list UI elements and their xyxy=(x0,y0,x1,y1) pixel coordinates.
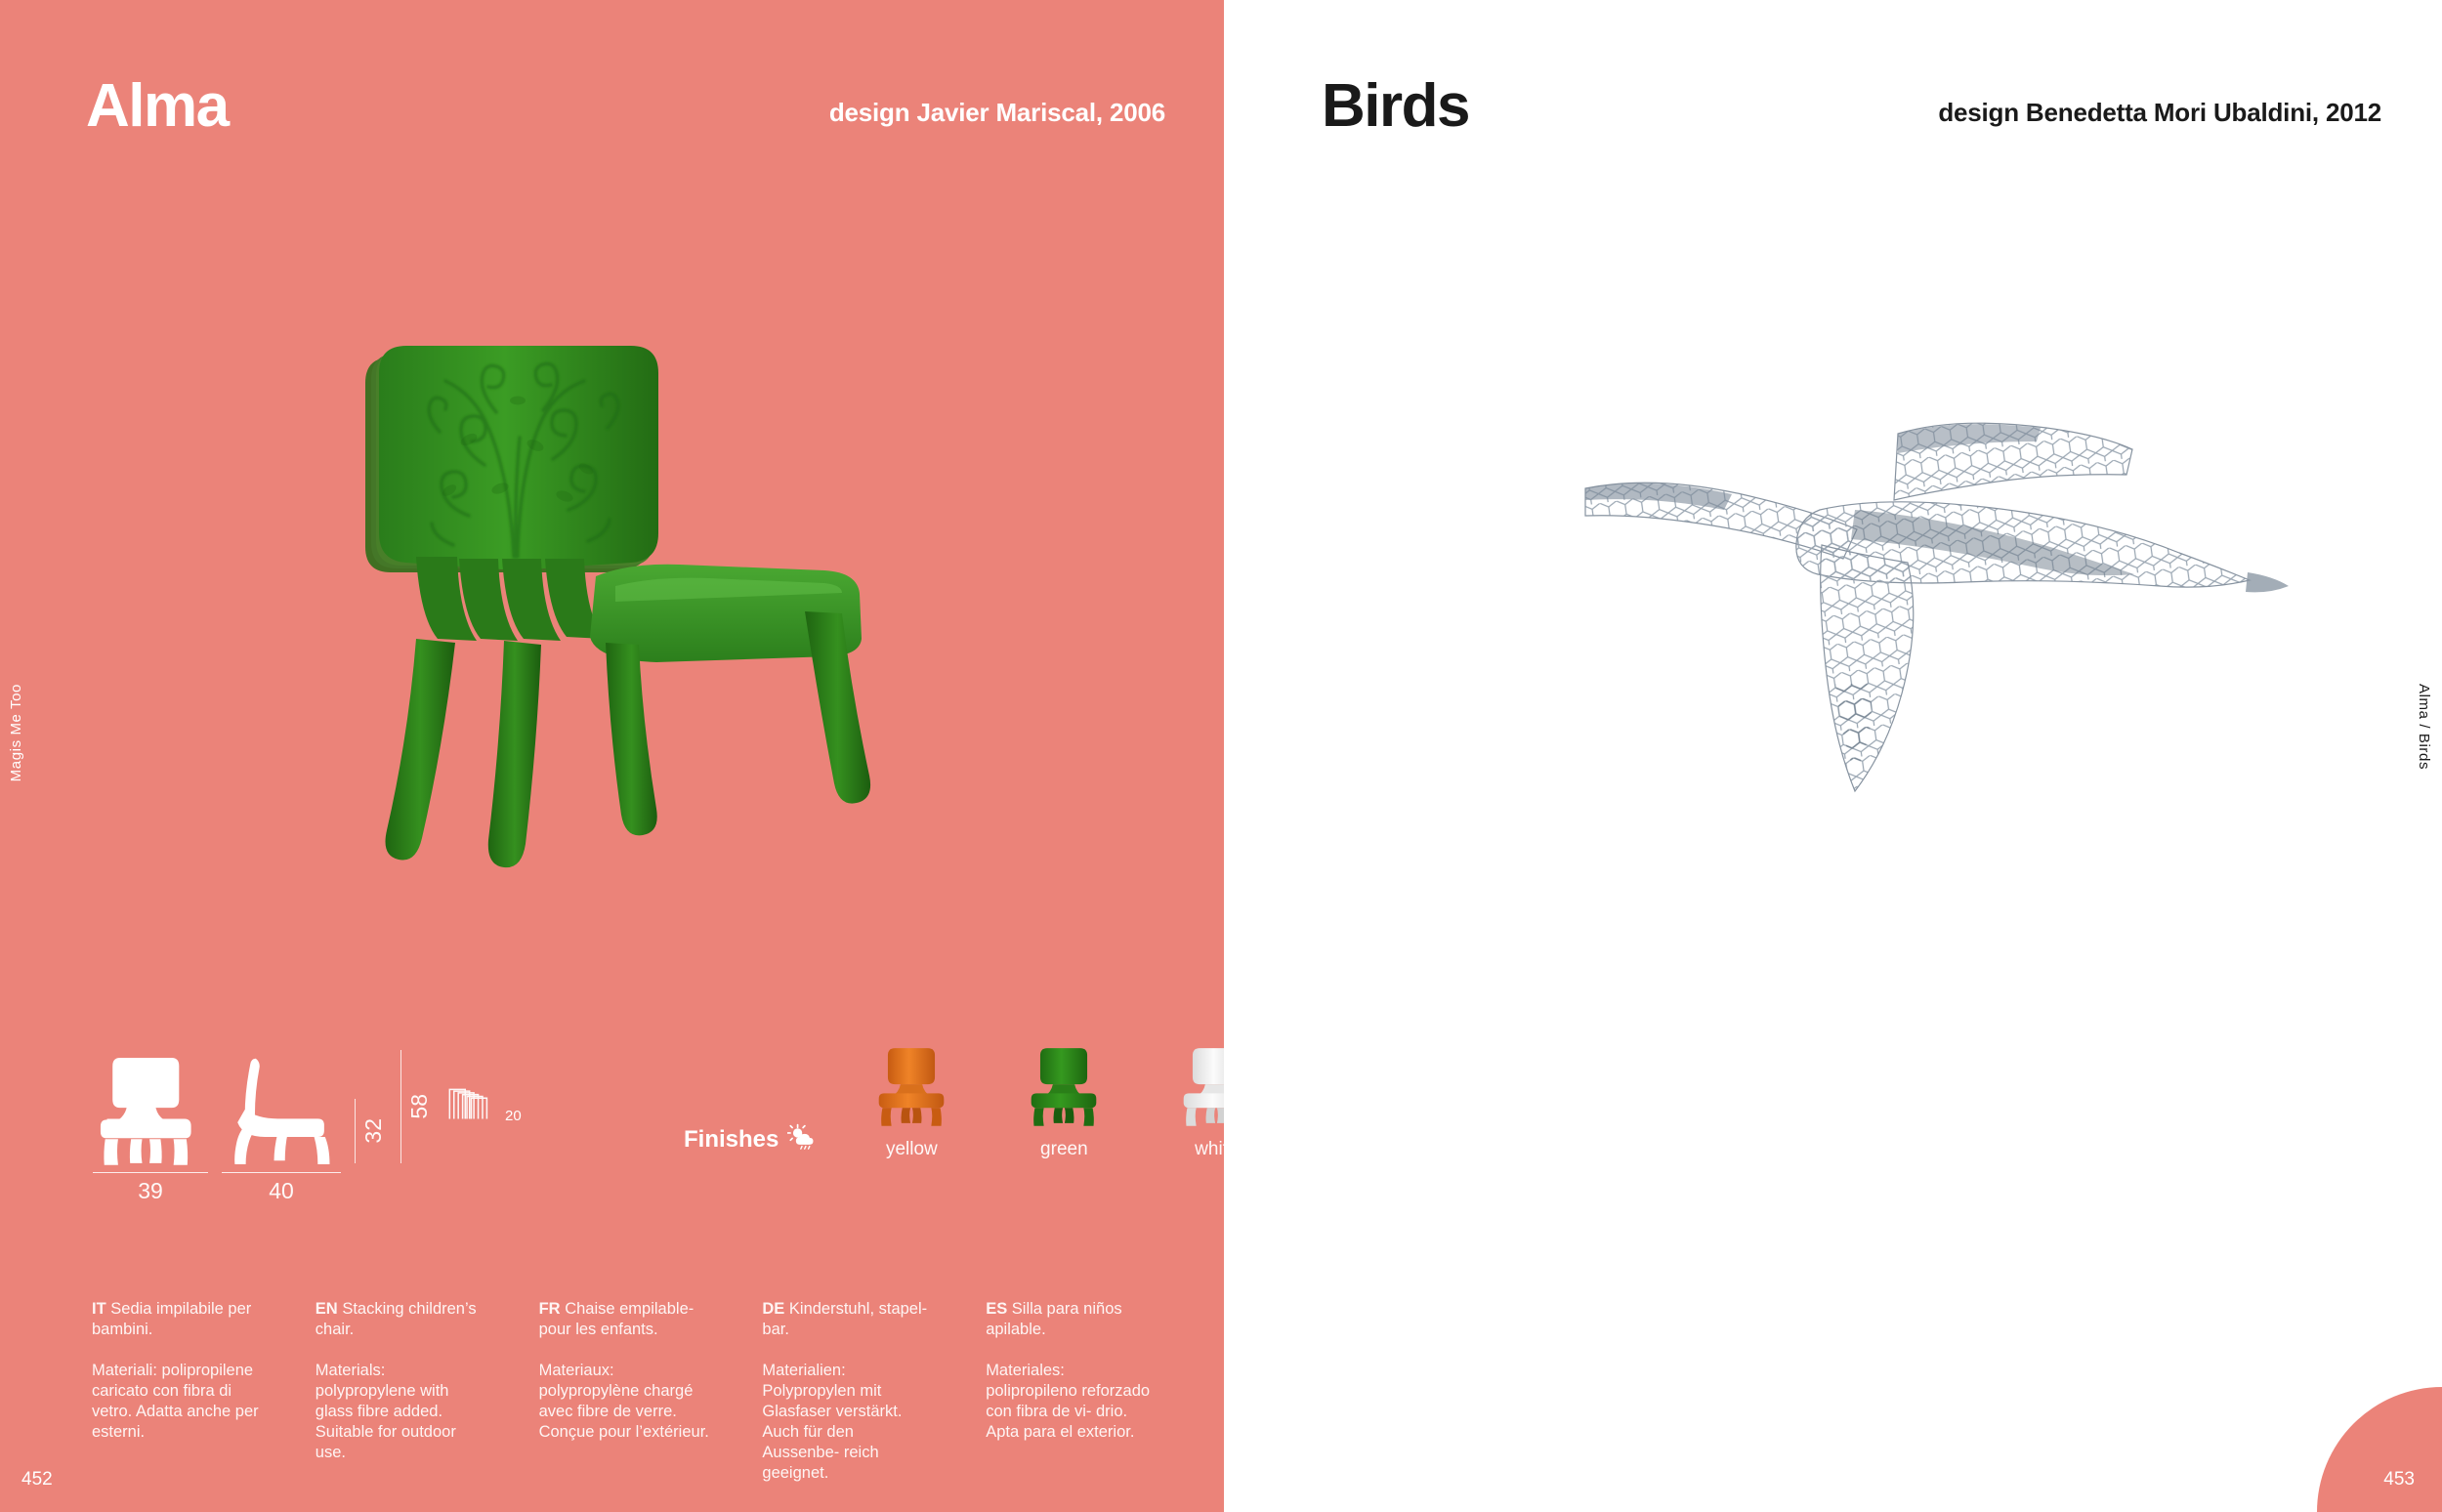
left-page-header: Alma design Javier Mariscal, 2006 xyxy=(86,76,1165,145)
desc-material: Materiaux: polypropylène chargé avec fib… xyxy=(539,1361,710,1443)
sun-rain-outdoor-icon xyxy=(787,1123,817,1156)
desc-title: EN Stacking children’s chair. xyxy=(316,1299,486,1340)
finish-option-green[interactable]: green xyxy=(1006,1045,1121,1160)
stack-count-value: 20 xyxy=(505,1108,522,1124)
chair-swatch-icon xyxy=(1028,1045,1100,1127)
page-title: Alma xyxy=(86,76,229,137)
finish-name: yellow xyxy=(886,1139,938,1160)
chair-side-icon xyxy=(227,1054,336,1165)
description-column-en: EN Stacking children’s chair. Materials:… xyxy=(316,1299,486,1484)
product-photo-alma-chair xyxy=(322,264,928,889)
desc-title: IT Sedia impilabile per bambini. xyxy=(92,1299,263,1340)
desc-material: Materials: polypropylene with glass fibr… xyxy=(316,1361,486,1463)
desc-title: DE Kinderstuhl, stapel- bar. xyxy=(762,1299,933,1340)
lang-tag: ES xyxy=(986,1300,1007,1318)
lang-tag: EN xyxy=(316,1300,338,1318)
catalog-spread: Alma design Javier Mariscal, 2006 xyxy=(0,0,2442,1512)
description-column-de: DE Kinderstuhl, stapel- bar. Materialien… xyxy=(762,1299,933,1484)
desc-title-text: Sedia impilabile per bambini. xyxy=(92,1300,251,1338)
desc-material: Materiales: polipropileno reforzado con … xyxy=(986,1361,1157,1443)
lang-tag: DE xyxy=(762,1300,784,1318)
finishes-label-wrap: Finishes xyxy=(684,1123,817,1160)
finish-option-yellow[interactable]: yellow xyxy=(854,1045,969,1160)
finishes-label: Finishes xyxy=(684,1126,779,1154)
dimension-specs-left: 39 40 32 xyxy=(93,1050,522,1204)
dim-rule xyxy=(400,1050,401,1163)
desc-title-text: Chaise empilable- pour les enfants. xyxy=(539,1300,695,1338)
lang-tag: IT xyxy=(92,1300,106,1318)
page-number-right: 453 xyxy=(2383,1469,2415,1491)
spec-value-side-depth: 40 xyxy=(269,1178,294,1204)
desc-material: Materialien: Polypropylen mit Glasfaser … xyxy=(762,1361,933,1484)
stacking-icon: 20 xyxy=(444,1075,522,1124)
spec-front-view: 39 xyxy=(93,1054,208,1204)
desc-title: FR Chaise empilable- pour les enfants. xyxy=(539,1299,710,1340)
margin-label-right: Alma / Birds xyxy=(2416,684,2432,770)
description-column-fr: FR Chaise empilable- pour les enfants. M… xyxy=(539,1299,710,1484)
spec-rule xyxy=(222,1172,341,1173)
spec-value-seat-height: 32 xyxy=(360,1118,387,1144)
finishes-left: Finishes xyxy=(684,1045,1274,1160)
product-photo-birds-sculpture xyxy=(1576,391,2318,801)
spec-value-total-height: 58 xyxy=(406,1094,433,1119)
right-page-header: Birds design Benedetta Mori Ubaldini, 20… xyxy=(1322,76,2381,145)
page-number-left: 452 xyxy=(21,1469,53,1491)
desc-title-text: Silla para niños apilable. xyxy=(986,1300,1121,1338)
spec-rule xyxy=(93,1172,208,1173)
spec-seat-height: 32 xyxy=(355,1099,387,1163)
finish-name: green xyxy=(1040,1139,1088,1160)
chair-swatch-icon xyxy=(875,1045,947,1127)
lang-tag: FR xyxy=(539,1300,561,1318)
bird-mesh-illustration xyxy=(1576,391,2318,801)
margin-label-left: Magis Me Too xyxy=(8,684,24,781)
desc-title-text: Kinderstuhl, stapel- bar. xyxy=(762,1300,927,1338)
desc-title: ES Silla para niños apilable. xyxy=(986,1299,1157,1340)
spec-total-height: 58 xyxy=(400,1050,433,1163)
page-title: Birds xyxy=(1322,76,1469,137)
right-page: Birds design Benedetta Mori Ubaldini, 20… xyxy=(1224,0,2442,1512)
chair-front-icon xyxy=(100,1054,201,1165)
description-column-it: IT Sedia impilabile per bambini. Materia… xyxy=(92,1299,263,1484)
descriptions-left: IT Sedia impilabile per bambini. Materia… xyxy=(92,1299,1157,1484)
desc-material: Materiali: polipropilene caricato con fi… xyxy=(92,1361,263,1443)
designer-credit: design Benedetta Mori Ubaldini, 2012 xyxy=(1938,98,2381,128)
spec-side-view: 40 xyxy=(222,1054,341,1204)
dim-rule xyxy=(355,1099,356,1163)
left-page: Alma design Javier Mariscal, 2006 xyxy=(0,0,1224,1512)
desc-title-text: Stacking children’s chair. xyxy=(316,1300,477,1338)
description-column-es: ES Silla para niños apilable. Materiales… xyxy=(986,1299,1157,1484)
alma-chair-illustration xyxy=(322,264,928,889)
page-number-badge-right: 453 xyxy=(2317,1387,2442,1512)
spec-value-front-width: 39 xyxy=(138,1178,163,1204)
designer-credit: design Javier Mariscal, 2006 xyxy=(829,98,1165,128)
